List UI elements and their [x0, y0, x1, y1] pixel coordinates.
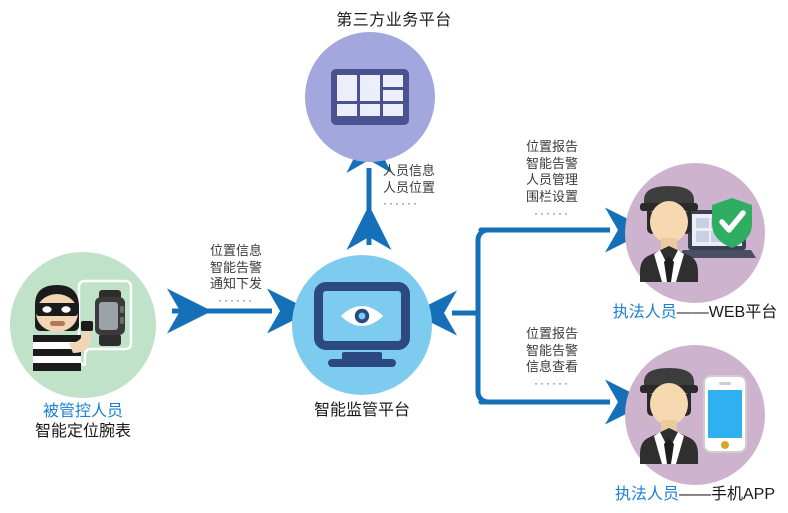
node-monitored-person[interactable]: 被管控人员 智能定位腕表	[10, 252, 156, 398]
officer-web-caption: 执法人员——WEB平台	[565, 303, 788, 323]
monitored-person-caption: 被管控人员 智能定位腕表	[0, 402, 213, 441]
node-officer-app[interactable]: 执法人员——手机APP	[625, 345, 765, 485]
center-circle	[292, 255, 432, 395]
monitor-eye-icon	[314, 282, 410, 368]
eye-icon	[338, 304, 386, 328]
officer-smartphone-icon	[632, 352, 758, 478]
third-party-platform-title: 第三方业务平台	[0, 6, 788, 30]
third-party-circle	[305, 32, 435, 162]
edge-label-center-web: 位置报告 智能告警 人员管理 围栏设置 ······	[504, 139, 600, 221]
app-circle	[625, 345, 765, 485]
node-third-party-platform[interactable]	[305, 32, 435, 162]
node-center-platform[interactable]: 智能监管平台	[292, 255, 432, 395]
edge-label-center-thirdparty: 人员信息 人员位置 ······	[383, 163, 473, 212]
diagram-canvas: 第三方业务平台	[0, 0, 788, 513]
center-platform-caption: 智能监管平台	[232, 401, 492, 421]
edge-label-person-center: 位置信息 智能告警 通知下发 ······	[186, 243, 286, 308]
node-officer-web[interactable]: 执法人员——WEB平台	[625, 163, 765, 303]
web-circle	[625, 163, 765, 303]
dashboard-grid-icon	[331, 69, 409, 125]
edge-label-center-app: 位置报告 智能告警 信息查看 ······	[504, 326, 600, 391]
person-circle	[10, 252, 156, 398]
officer-app-caption: 执法人员——手机APP	[565, 485, 788, 505]
person-smartwatch-icon	[17, 259, 149, 391]
officer-laptop-shield-icon	[632, 170, 758, 296]
